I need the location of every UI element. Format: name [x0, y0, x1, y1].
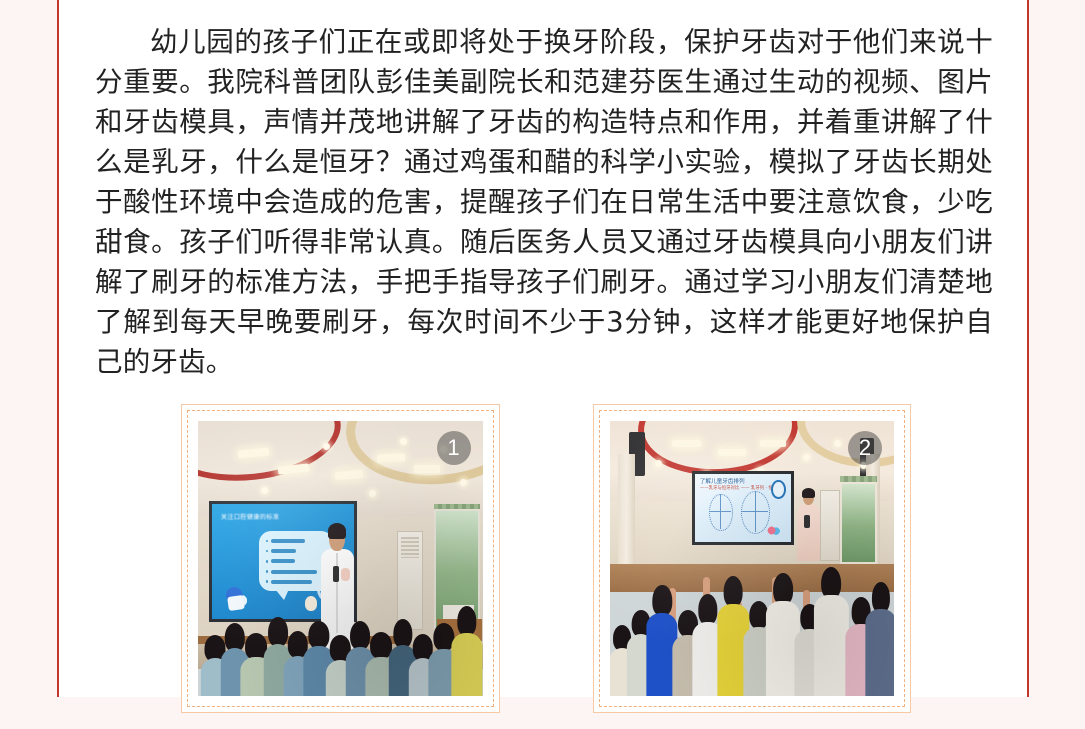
article-inner: 幼儿园的孩子们正在或即将处于换牙阶段，保护牙齿对于他们来说十分重要。我院科普团队…: [59, 0, 1027, 697]
slide-bullet-line: [271, 549, 296, 553]
slide-bullet-dot: [266, 560, 269, 563]
figure-row: 关注口腔健康的标准: [141, 388, 951, 729]
doctor-hair: [328, 523, 346, 539]
figure-photo[interactable]: 关注口腔健康的标准: [198, 421, 483, 696]
ceiling-light: [672, 440, 700, 447]
slide-bullet-dot: [266, 570, 269, 573]
ceiling-light: [760, 440, 786, 447]
slide-bullet-dot: [266, 580, 269, 583]
child: [451, 606, 482, 696]
dental-arch-axis: [755, 491, 756, 532]
ceiling-light: [334, 470, 363, 480]
ceiling-downlight: [261, 487, 268, 494]
hospital-logo: [771, 480, 786, 499]
projector-screen: 了解儿童牙齿排列 ——乳牙与恒牙对比 —— 乳牙列 · 恒牙列: [692, 471, 794, 545]
child: [814, 567, 848, 696]
ceiling-downlight: [460, 479, 467, 486]
dental-arch-axis: [720, 494, 721, 529]
child: [866, 582, 894, 696]
slide-subtitle: ——乳牙与恒牙对比 —— 乳牙列 · 恒牙列: [700, 485, 782, 491]
microphone: [804, 515, 810, 528]
figure-dashed-border: 关注口腔健康的标准: [187, 410, 494, 707]
ceiling-downlight: [400, 438, 407, 445]
slide-cartoon: [767, 525, 780, 537]
figure-number-badge: 1: [437, 431, 471, 465]
audience-children: [610, 542, 895, 696]
tooth-model: [341, 568, 350, 582]
slide-title: 关注口腔健康的标准: [221, 512, 279, 521]
ceiling-light: [718, 449, 746, 456]
photo-scene-children-raising-hands: 了解儿童牙齿排列 ——乳牙与恒牙对比 —— 乳牙列 · 恒牙列: [610, 421, 895, 696]
slide-bullet-dot: [266, 540, 269, 543]
slide-bullet-line: [271, 559, 295, 563]
photo-scene-classroom-lecture: 关注口腔健康的标准: [198, 421, 483, 696]
article-column: 幼儿园的孩子们正在或即将处于换牙阶段，保护牙齿对于他们来说十分重要。我院科普团队…: [57, 0, 1029, 697]
ceiling-light: [414, 465, 440, 473]
ceiling-downlight: [369, 490, 376, 497]
figure-item[interactable]: 关注口腔健康的标准: [181, 404, 500, 713]
ceiling-downlight: [803, 454, 810, 461]
presenter-hair: [802, 488, 815, 498]
page-root: 幼儿园的孩子们正在或即将处于换牙阶段，保护牙齿对于他们来说十分重要。我院科普团队…: [0, 0, 1085, 697]
slide-bullet-line: [271, 539, 305, 543]
microphone: [333, 566, 339, 582]
slide-title: 了解儿童牙齿排列: [700, 477, 745, 485]
slide-bullet-dot: [266, 550, 269, 553]
ceiling-downlight: [655, 460, 662, 467]
air-conditioner-grill: [401, 537, 419, 558]
article-body-paragraph: 幼儿园的孩子们正在或即将处于换牙阶段，保护牙齿对于他们来说十分重要。我院科普团队…: [95, 22, 993, 382]
figure-item[interactable]: 了解儿童牙齿排列 ——乳牙与恒牙对比 —— 乳牙列 · 恒牙列: [593, 404, 912, 713]
figure-photo[interactable]: 了解儿童牙齿排列 ——乳牙与恒牙对比 —— 乳牙列 · 恒牙列: [610, 421, 895, 696]
figure-dashed-border: 了解儿童牙齿排列 ——乳牙与恒牙对比 —— 乳牙列 · 恒牙列: [599, 410, 906, 707]
slide-bullet-line: [271, 570, 317, 574]
audience-children: [198, 592, 483, 697]
slide-bullet-line: [271, 580, 312, 584]
figure-number-badge: 2: [848, 431, 882, 465]
